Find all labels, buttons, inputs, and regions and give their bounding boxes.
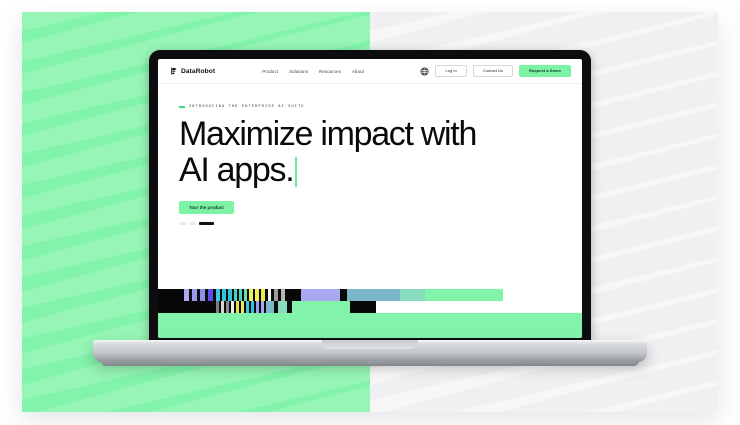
hero-eyebrow-text: INTRODUCING THE ENTERPRISE AI SUITE xyxy=(189,105,305,109)
media-stripe-segment xyxy=(350,301,376,313)
hero-eyebrow: INTRODUCING THE ENTERPRISE AI SUITE xyxy=(179,105,582,109)
skeleton-block-dark xyxy=(199,222,214,225)
media-stripe-segment xyxy=(503,289,582,301)
hero-section: INTRODUCING THE ENTERPRISE AI SUITE Maxi… xyxy=(158,84,582,225)
skeleton-block-b xyxy=(189,222,196,225)
media-stripe-segment xyxy=(340,289,347,301)
login-button[interactable]: Log In xyxy=(435,65,466,77)
media-stripe-segment xyxy=(292,301,350,313)
media-stripe-segment xyxy=(285,289,301,301)
media-stripe-segment xyxy=(301,289,340,301)
nav-link-resources[interactable]: Resources xyxy=(319,69,341,74)
media-stripe-segment xyxy=(347,289,400,301)
skeleton-placeholders xyxy=(179,222,582,225)
media-stripe-segment xyxy=(266,301,274,313)
contact-button[interactable]: Contact Us xyxy=(473,65,513,77)
site-navbar: DataRobot Product Solutions Resources Ab… xyxy=(158,59,582,84)
hero-headline-line1: Maximize impact with xyxy=(179,115,476,153)
hero-headline: Maximize impact with AI apps. xyxy=(179,116,559,188)
media-stripe-segment xyxy=(158,301,216,313)
media-stripe-row-2 xyxy=(158,301,582,313)
logo-text: DataRobot xyxy=(181,68,215,75)
logo[interactable]: DataRobot xyxy=(170,67,215,75)
media-stripe-segment xyxy=(400,289,425,301)
media-stripe-segment xyxy=(278,301,287,313)
laptop-base-notch xyxy=(322,340,418,349)
laptop-base-foot xyxy=(101,361,639,366)
media-stripe-segment xyxy=(158,289,184,301)
media-green-fill xyxy=(158,313,582,338)
laptop-base xyxy=(93,340,647,362)
nav-actions: Log In Contact Us Request a Demo xyxy=(420,65,571,77)
nav-link-solutions[interactable]: Solutions xyxy=(289,69,308,74)
hero-headline-line2: AI apps. xyxy=(179,151,293,189)
media-stripe-row-1 xyxy=(158,289,582,301)
request-demo-button[interactable]: Request a Demo xyxy=(519,65,571,77)
globe-icon[interactable] xyxy=(420,67,429,76)
typing-caret-icon xyxy=(295,157,297,187)
eyebrow-dash-icon xyxy=(179,106,185,108)
nav-link-about[interactable]: About xyxy=(352,69,364,74)
media-stripe-segment xyxy=(376,301,582,313)
screenshot-stage: DataRobot Product Solutions Resources Ab… xyxy=(0,0,740,425)
laptop-screen: DataRobot Product Solutions Resources Ab… xyxy=(158,59,582,338)
laptop-lid: DataRobot Product Solutions Resources Ab… xyxy=(149,50,591,345)
hero-media-loading xyxy=(158,289,582,338)
skeleton-block-a xyxy=(179,222,186,225)
datarobot-logo-mark xyxy=(170,67,178,75)
laptop-device: DataRobot Product Solutions Resources Ab… xyxy=(149,50,591,350)
tour-product-button[interactable]: Tour the product xyxy=(179,201,234,214)
media-stripe-segment xyxy=(425,289,503,301)
nav-link-product[interactable]: Product xyxy=(262,69,278,74)
nav-links: Product Solutions Resources About xyxy=(262,69,364,74)
